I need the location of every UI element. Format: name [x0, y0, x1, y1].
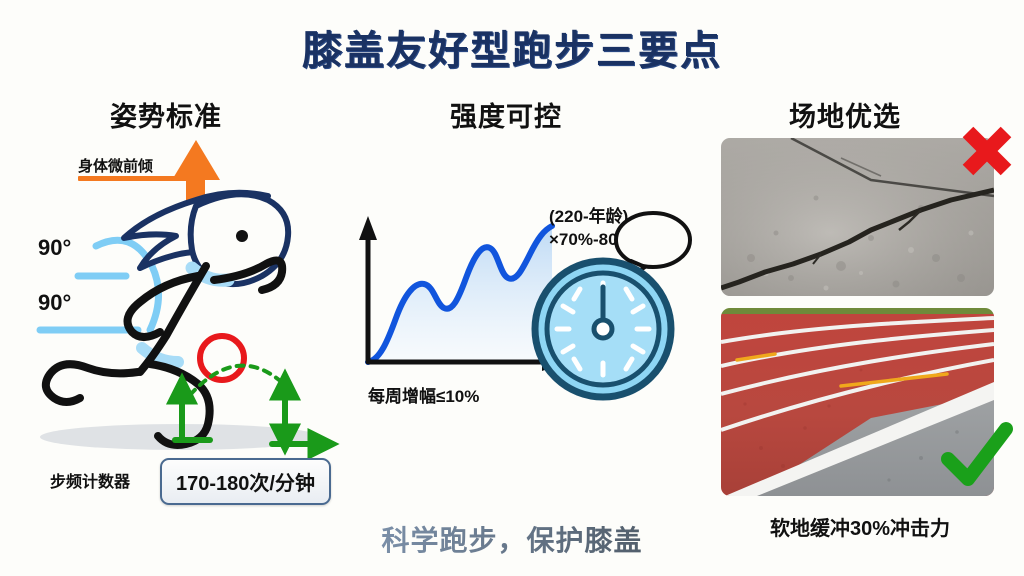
- angle-label-arm: 90°: [38, 235, 71, 261]
- bad-surface-photo: [721, 138, 994, 296]
- section-heading-venue: 场地优选: [789, 95, 901, 134]
- infographic-root: 膝盖友好型跑步三要点 姿势标准 强度可控 场地优选 身体微前倾 90° 90°: [0, 0, 1024, 576]
- check-mark-icon: [938, 417, 1016, 495]
- hr-formula-line2: ×70%-80%: [549, 230, 633, 249]
- cadence-value-badge: 170-180次/分钟: [160, 458, 331, 505]
- chart-caption: 每周增幅≤10%: [368, 382, 479, 407]
- heart-rate-formula: (220-年龄) ×70%-80%: [549, 205, 633, 251]
- cross-mark-icon: [956, 120, 1018, 182]
- page-title: 膝盖友好型跑步三要点: [0, 18, 1024, 76]
- footer-slogan: 科学跑步，保护膝盖: [0, 519, 1024, 559]
- forward-lean-underline: [78, 176, 190, 181]
- forward-lean-label: 身体微前倾: [78, 155, 153, 176]
- section-heading-intensity: 强度可控: [450, 95, 562, 134]
- venue-panel: 软地缓冲30%冲击力: [715, 130, 1024, 560]
- cadence-counter-label: 步频计数器: [50, 468, 130, 492]
- angle-label-leg: 90°: [38, 290, 71, 316]
- section-heading-posture: 姿势标准: [110, 95, 222, 134]
- hr-formula-line1: (220-年龄): [549, 207, 628, 226]
